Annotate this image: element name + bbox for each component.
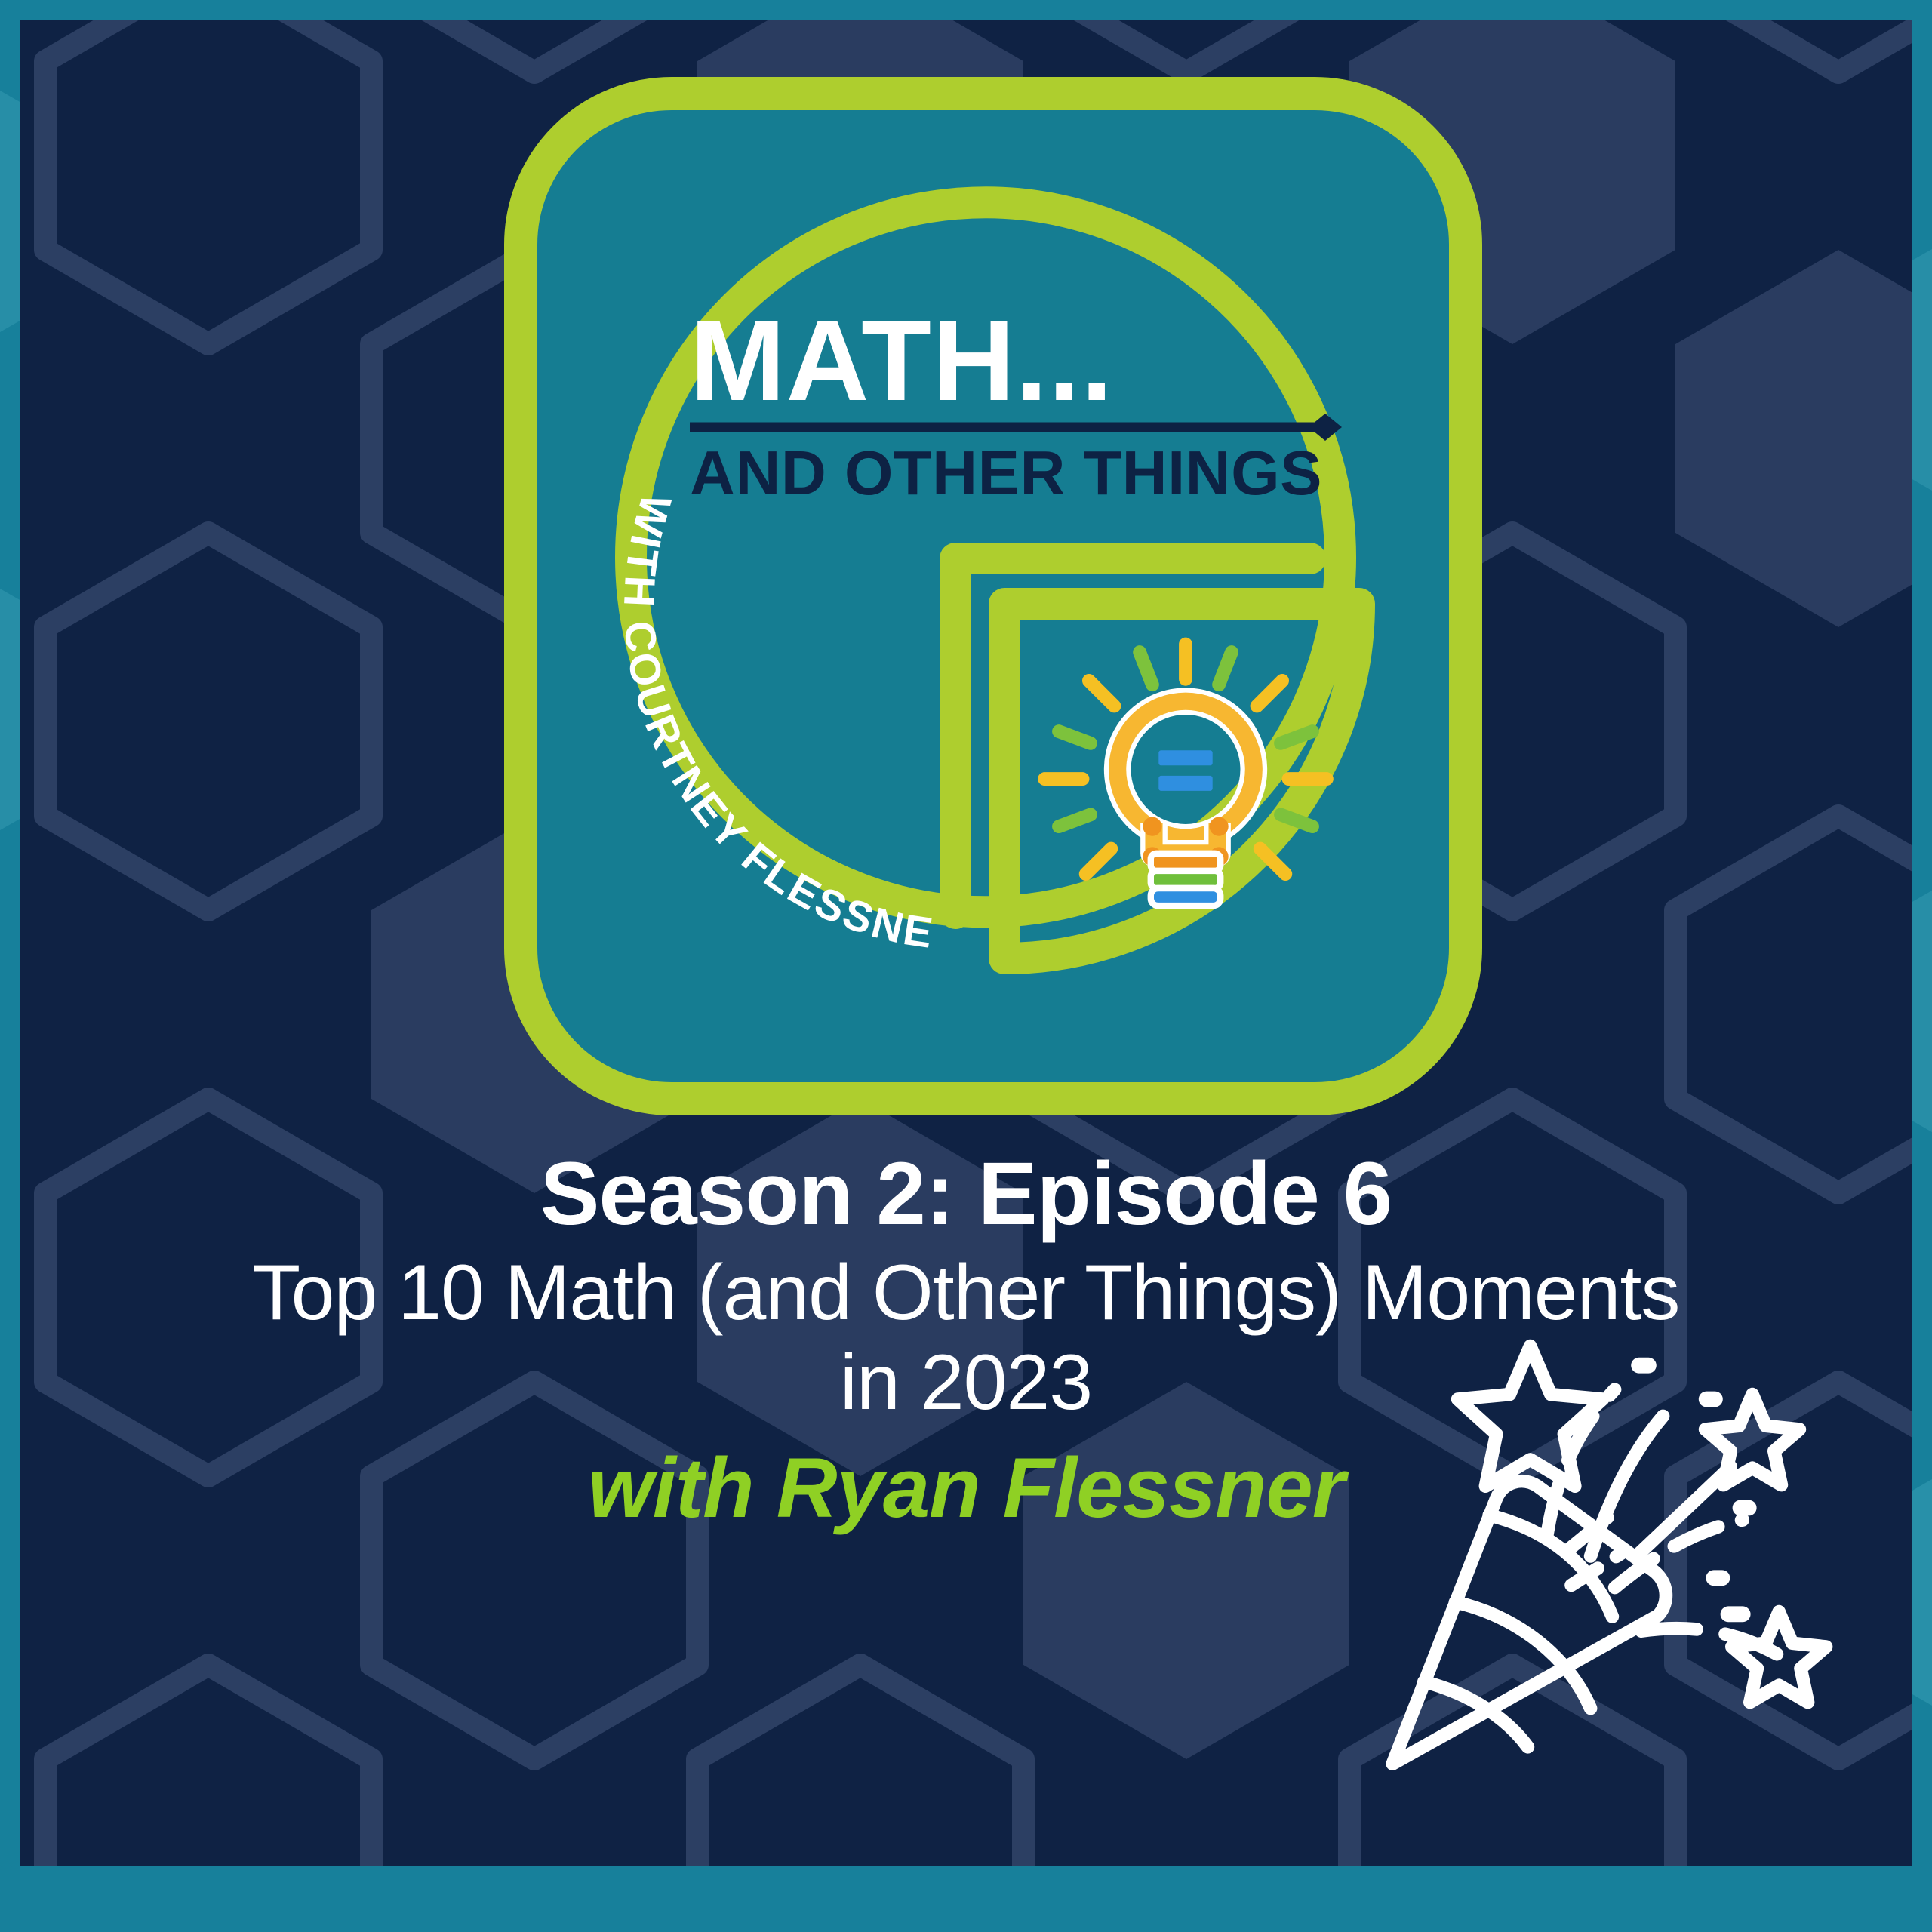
logo-title-sub: AND OTHER THINGS — [690, 438, 1322, 508]
podcast-cover-art: MATH... AND OTHER THINGS WITH COURTNEY F… — [0, 0, 1932, 1932]
season-episode-heading: Season 2: Episode 6 — [50, 1144, 1882, 1244]
logo-title-main: MATH... — [690, 297, 1113, 425]
party-popper-icon — [1354, 1315, 1837, 1798]
cover-panel: MATH... AND OTHER THINGS WITH COURTNEY F… — [20, 20, 1912, 1866]
podcast-logo: MATH... AND OTHER THINGS WITH COURTNEY F… — [503, 75, 1484, 1117]
